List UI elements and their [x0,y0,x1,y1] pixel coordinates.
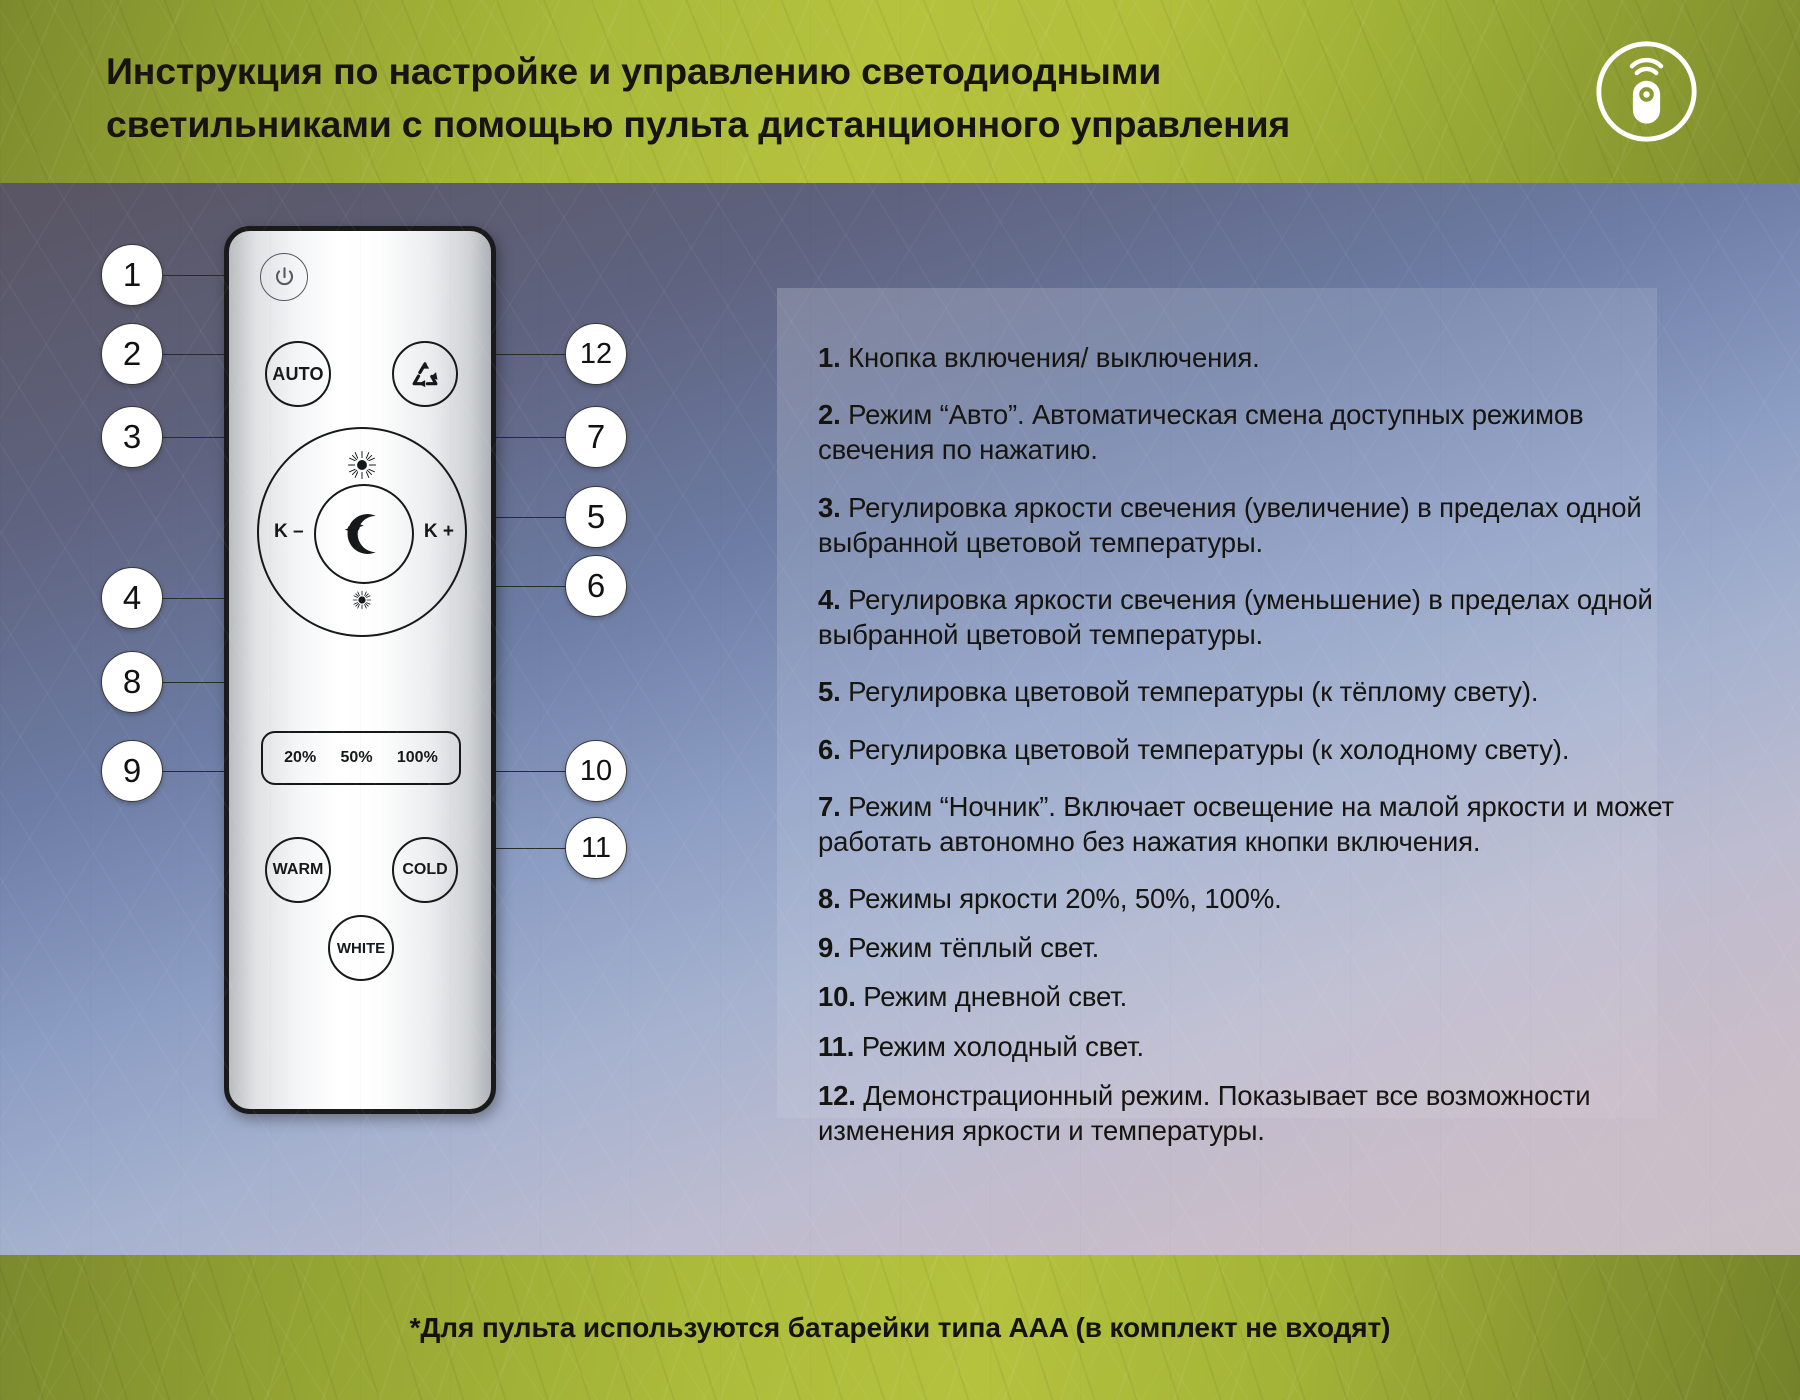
auto-button-label: AUTO [272,364,323,385]
callout-1[interactable]: 1 [101,244,163,306]
control-wheel: K + K – [257,427,467,637]
legend-text-2: Режим “Авто”. Автоматическая смена досту… [818,399,1584,465]
legend-text-10: Режим дневной свет. [863,981,1127,1012]
legend-num-6: 6. [818,734,841,765]
recycle-loop-icon [406,355,444,393]
legend-num-4: 4. [818,584,841,615]
cold-button[interactable]: COLD [392,837,458,903]
legend-text-12: Демонстрационный режим. Показывает все в… [818,1080,1590,1146]
legend-text-11: Режим холодный свет. [862,1031,1144,1062]
legend-text-3: Регулировка яркости свечения (увеличение… [818,492,1642,558]
legend-item-6: 6. Регулировка цветовой температуры (к х… [818,732,1678,767]
legend-text-7: Режим “Ночник”. Включает освещение на ма… [818,791,1674,857]
legend-item-2: 2. Режим “Авто”. Автоматическая смена до… [818,397,1678,467]
cold-button-label: COLD [402,861,447,879]
callout-4[interactable]: 4 [101,567,163,629]
legend-text-1: Кнопка включения/ выключения. [848,342,1259,373]
legend-list: 1. Кнопка включения/ выключения. 2. Режи… [818,340,1678,1170]
power-button[interactable] [260,253,308,301]
white-button[interactable]: WHITE [328,915,394,981]
callout-8[interactable]: 8 [101,651,163,713]
callout-5[interactable]: 5 [565,486,627,548]
white-button-label: WHITE [337,940,385,957]
infographic-page: Инструкция по настройке и управлению све… [0,0,1800,1400]
callout-10[interactable]: 10 [565,740,627,802]
brightness-preset-20[interactable]: 20% [284,749,316,767]
color-temp-warm-button[interactable]: K + [424,521,454,543]
legend-item-10: 10. Режим дневной свет. [818,979,1678,1014]
header-banner: Инструкция по настройке и управлению све… [0,0,1800,183]
remote-control-signal-icon [1593,38,1700,145]
legend-text-8: Режимы яркости 20%, 50%, 100%. [848,883,1281,914]
battery-note: *Для пульта используются батарейки типа … [0,1312,1800,1344]
legend-text-5: Регулировка цветовой температуры (к тёпл… [848,676,1538,707]
remote-control-illustration: AUTO [224,226,496,1114]
sun-bright-icon [345,448,379,482]
legend-num-7: 7. [818,791,841,822]
legend-item-9: 9. Режим тёплый свет. [818,930,1678,965]
legend-item-11: 11. Режим холодный свет. [818,1029,1678,1064]
brightness-preset-50[interactable]: 50% [341,749,373,767]
footer-banner: *Для пульта используются батарейки типа … [0,1255,1800,1400]
brightness-up-button[interactable] [345,448,379,487]
legend-num-3: 3. [818,492,841,523]
legend-item-7: 7. Режим “Ночник”. Включает освещение на… [818,789,1678,859]
callout-11[interactable]: 11 [565,817,627,879]
legend-text-4: Регулировка яркости свечения (уменьшение… [818,584,1653,650]
brightness-down-button[interactable] [350,588,374,617]
moon-stars-icon [335,505,393,563]
power-icon [272,265,297,290]
legend-item-4: 4. Регулировка яркости свечения (уменьше… [818,582,1678,652]
legend-text-9: Режим тёплый свет. [848,932,1099,963]
legend-num-10: 10. [818,981,856,1012]
legend-item-8: 8. Режимы яркости 20%, 50%, 100%. [818,881,1678,916]
legend-item-5: 5. Регулировка цветовой температуры (к т… [818,674,1678,709]
demo-button[interactable] [392,341,458,407]
callout-2[interactable]: 2 [101,323,163,385]
legend-text-6: Регулировка цветовой температуры (к холо… [848,734,1569,765]
legend-num-12: 12. [818,1080,856,1111]
sun-dim-icon [350,588,374,612]
legend-num-1: 1. [818,342,841,373]
page-title: Инструкция по настройке и управлению све… [106,45,1346,152]
warm-button[interactable]: WARM [265,837,331,903]
callout-6[interactable]: 6 [565,555,627,617]
legend-item-1: 1. Кнопка включения/ выключения. [818,340,1678,375]
legend-item-3: 3. Регулировка яркости свечения (увеличе… [818,490,1678,560]
callout-9[interactable]: 9 [101,740,163,802]
brightness-presets-bar[interactable]: 20% 50% 100% [261,731,461,785]
legend-num-2: 2. [818,399,841,430]
legend-item-12: 12. Демонстрационный режим. Показывает в… [818,1078,1678,1148]
warm-button-label: WARM [273,861,324,879]
callout-7[interactable]: 7 [565,406,627,468]
legend-num-11: 11. [818,1031,854,1062]
night-mode-button[interactable] [314,484,414,584]
legend-num-5: 5. [818,676,841,707]
color-temp-cold-button[interactable]: K – [274,521,304,543]
legend-num-8: 8. [818,883,841,914]
auto-button[interactable]: AUTO [265,341,331,407]
legend-num-9: 9. [818,932,841,963]
brightness-preset-100[interactable]: 100% [397,749,438,767]
callout-3[interactable]: 3 [101,406,163,468]
callout-12[interactable]: 12 [565,323,627,385]
